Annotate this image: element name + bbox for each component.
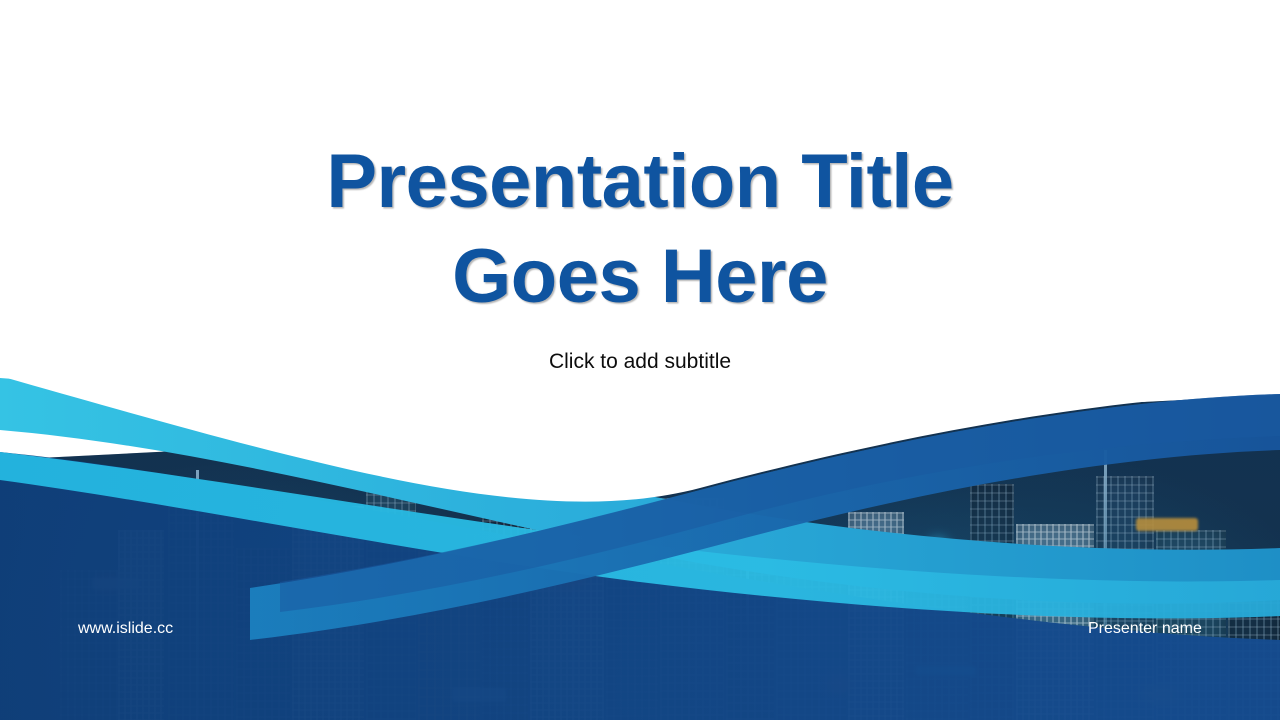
footer-website: www.islide.cc bbox=[78, 620, 173, 638]
presentation-slide: Presentation Title Goes Here Click to ad… bbox=[0, 0, 1280, 720]
page-title: Presentation Title Goes Here bbox=[0, 134, 1280, 324]
subtitle-placeholder[interactable]: Click to add subtitle bbox=[0, 350, 1280, 374]
footer-presenter-name: Presenter name bbox=[1088, 620, 1202, 638]
